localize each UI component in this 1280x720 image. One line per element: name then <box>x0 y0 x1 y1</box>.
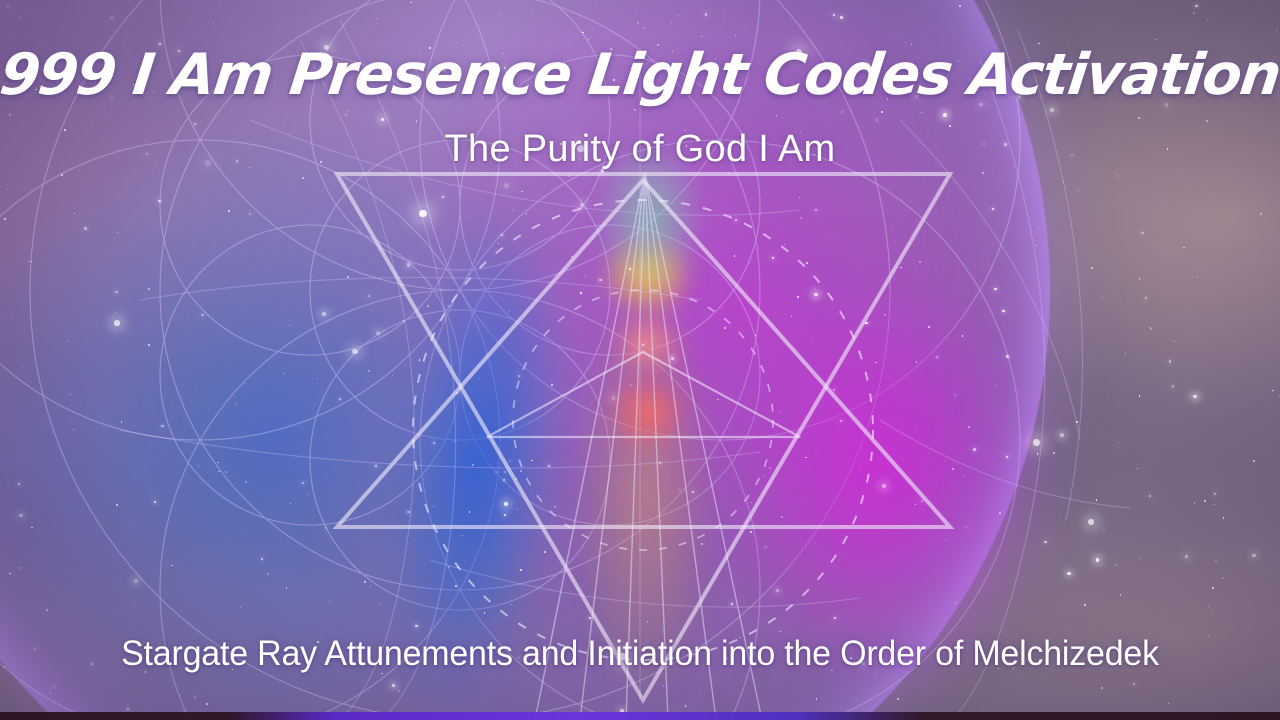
inner-triangle <box>487 352 800 437</box>
slide-canvas: 999 I Am Presence Light Codes Activation… <box>0 0 1280 720</box>
slide-footer: Stargate Ray Attunements and Initiation … <box>19 634 1261 674</box>
dashed-circle-outer <box>413 200 873 660</box>
slide-subtitle: The Purity of God I Am <box>0 128 1280 171</box>
slide-title: 999 I Am Presence Light Codes Activation <box>0 46 1280 104</box>
bottom-accent-strip <box>0 712 1280 720</box>
dashed-circle-inner <box>513 290 773 550</box>
merkaba-star-of-david <box>0 0 1280 720</box>
